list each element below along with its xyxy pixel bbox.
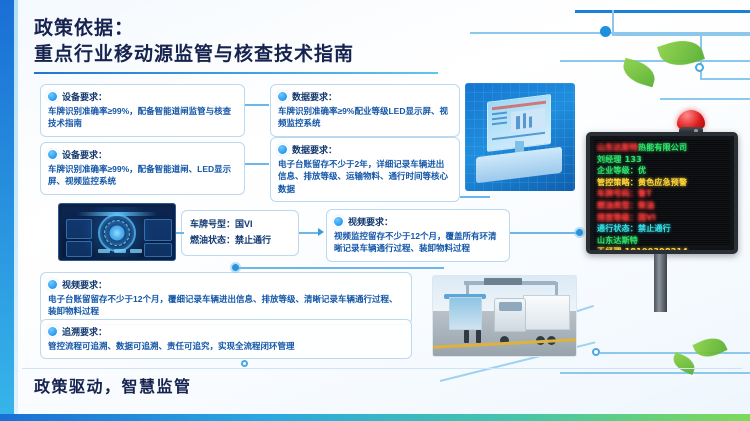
circuit-line: [575, 10, 750, 13]
page-title: 政策依据： 重点行业移动源监管与核查技术指南: [34, 16, 354, 67]
card-title-text: 视频要求：: [348, 215, 393, 228]
led-line-control-strategy: 管控策略：黄色应急预警: [597, 177, 727, 189]
led-line-manager-phone: 王经理 18100398214: [597, 246, 727, 254]
led-line-emission-grade: 排放等级：国VI: [597, 212, 727, 224]
leaf-icon: [692, 333, 727, 363]
leaf-icon: [670, 352, 698, 375]
card-video-bottom[interactable]: 视频要求： 电子台账留留存不少于12个月，覆细记录车辆进出信息、排放等级、清晰记…: [40, 272, 412, 325]
circuit-line: [600, 352, 750, 354]
circuit-line: [700, 34, 702, 78]
circuit-node: [241, 360, 248, 367]
card-body-text: 车牌识别准确率≥99%，配备智能道闸监管与核查技术指南: [48, 105, 237, 130]
card-title-text: 视频要求：: [62, 278, 107, 291]
card-body-text: 管控流程可追溯、数据可追溯、责任可追究，实现全流程闭环管理: [48, 340, 404, 352]
leaf-icon: [657, 34, 705, 72]
card-header: 设备要求：: [48, 148, 237, 161]
connector-line: [245, 104, 269, 106]
card-trace[interactable]: 追溯要求： 管控流程可追溯、数据可追溯、责任可追究，实现全流程闭环管理: [40, 319, 412, 359]
dashboard-panel: [66, 241, 92, 257]
bullet-dot-icon: [278, 92, 287, 101]
fuel-status-label: 燃油状态：: [190, 235, 235, 245]
dashboard-panel: [144, 219, 172, 241]
card-title-text: 数据要求：: [292, 143, 337, 156]
circuit-line: [660, 98, 750, 100]
card-data-2[interactable]: 数据要求： 电子台账留存不少于2年，详细记录车辆进出信息、排放等级、运输物料、通…: [270, 137, 460, 202]
card-title-text: 设备要求：: [62, 90, 107, 103]
led-company-suffix: 热能有限公司: [638, 143, 687, 152]
dashboard-panel: [144, 243, 172, 257]
heading-line-2: 重点行业移动源监管与核查技术指南: [34, 42, 354, 68]
card-title-text: 数据要求：: [292, 90, 337, 103]
led-line-fuel-type: 燃油类型：柴油: [597, 200, 727, 212]
card-body-text: 电子台账留存不少于2年，详细记录车辆进出信息、排放等级、运输物料、通行时间等核心…: [278, 158, 452, 195]
card-header: 视频要求：: [48, 278, 404, 291]
led-line-pass-status: 通行状态：禁止通行: [597, 223, 727, 235]
circuit-line: [700, 78, 750, 80]
connector-line: [245, 163, 269, 165]
circuit-line: [560, 60, 750, 62]
bullet-dot-icon: [48, 150, 57, 159]
card-body-text: 车牌识别准确率≥9%配业等级LED显示屏、视频监控系统: [278, 105, 452, 130]
connector-line: [510, 232, 580, 234]
card-body-text: 电子台账留留存不少于12个月，覆细记录车辆进出信息、排放等级、清晰记录车辆通行过…: [48, 293, 404, 318]
circuit-line: [470, 32, 750, 34]
dashboard-button: [114, 249, 126, 253]
circuit-line: [612, 10, 614, 34]
led-display-unit: 山东达斯特热能有限公司 刘经理 133 企业等级：优 管控策略：黄色应急预警 车…: [581, 110, 746, 310]
dashboard-panel: [66, 219, 92, 239]
card-equipment-1[interactable]: 设备要求： 车牌识别准确率≥99%，配备智能道闸监管与核查技术指南: [40, 84, 245, 137]
bullet-dot-icon: [48, 92, 57, 101]
truck-trailer: [523, 295, 570, 330]
connector-line: [299, 232, 319, 234]
arrow-icon: [318, 228, 324, 236]
bullet-dot-icon: [48, 327, 57, 336]
plate-model-label: 车牌号型：: [190, 219, 235, 229]
led-line-plate-number: 车牌号码：鲁T: [597, 188, 727, 200]
led-line-enterprise-grade: 企业等级：优: [597, 165, 727, 177]
dashboard-gauge-core: [110, 226, 125, 241]
led-line-company: 山东达斯特热能有限公司: [597, 142, 727, 154]
truck-gate-photo: [432, 275, 577, 357]
leaf-icon: [620, 58, 658, 88]
display-pole: [654, 254, 667, 312]
plate-model-value: 国VI: [235, 219, 253, 229]
dashboard-screenshot: [58, 203, 176, 261]
bollard: [476, 330, 481, 343]
card-title-text: 设备要求：: [62, 148, 107, 161]
left-accent-bar-secondary: [14, 0, 18, 421]
card-body-text: 视频监控留存不少于12个月，覆盖所有环清晰记录车辆通行过程、装卸物料过程: [334, 230, 502, 255]
circuit-node: [592, 348, 600, 356]
plate-row-1: 车牌号型：国VI: [190, 217, 290, 233]
bullet-dot-icon: [334, 217, 343, 226]
card-equipment-2[interactable]: 设备要求： 车牌识别准确率≥99%，配备智能道闸、LED显示屏、视频监控系统: [40, 142, 245, 195]
plate-info-box[interactable]: 车牌号型：国VI 燃油状态：禁止通行: [181, 210, 299, 256]
led-company-prefix: 山东达斯特: [597, 143, 638, 152]
card-header: 数据要求：: [278, 143, 452, 156]
slide-root: 政策依据： 重点行业移动源监管与核查技术指南 设备要求： 车牌识别准确率≥99%…: [0, 0, 750, 421]
card-data-1[interactable]: 数据要求： 车牌识别准确率≥9%配业等级LED显示屏、视频监控系统: [270, 84, 460, 137]
card-header: 追溯要求：: [48, 325, 404, 338]
card-header: 视频要求：: [334, 215, 502, 228]
card-body-text: 车牌识别准确率≥99%，配备智能道闸、LED显示屏、视频监控系统: [48, 163, 237, 188]
connector-line: [234, 267, 444, 269]
circuit-line: [560, 372, 750, 374]
bollard: [464, 330, 469, 343]
card-video-right[interactable]: 视频要求： 视频监控留存不少于12个月，覆盖所有环清晰记录车辆通行过程、装卸物料…: [326, 209, 510, 262]
circuit-node: [695, 63, 704, 72]
connector-line: [460, 196, 490, 198]
truck-windshield: [499, 302, 522, 312]
overhead-sign: [484, 278, 521, 285]
footer-title: 政策驱动，智慧监管: [34, 373, 192, 397]
left-accent-bar: [0, 0, 14, 421]
circuit-node: [600, 26, 611, 37]
title-underline: [34, 72, 438, 74]
gate-booth: [449, 297, 482, 331]
connector-node: [232, 264, 239, 271]
bullet-dot-icon: [278, 145, 287, 154]
led-line-company-short: 山东达斯特: [597, 235, 727, 247]
card-title-text: 追溯要求：: [62, 325, 107, 338]
dashboard-canvas: [62, 207, 172, 257]
divider: [22, 368, 742, 369]
fuel-status-value: 禁止通行: [235, 235, 271, 245]
dashboard-button: [130, 249, 142, 253]
led-line-contact-1: 刘经理 133: [597, 154, 727, 166]
heading-line-1: 政策依据：: [34, 16, 354, 42]
led-board[interactable]: 山东达斯特热能有限公司 刘经理 133 企业等级：优 管控策略：黄色应急预警 车…: [586, 132, 738, 254]
bottom-gradient-strip: [0, 414, 750, 421]
plate-row-2: 燃油状态：禁止通行: [190, 233, 290, 249]
dashboard-button: [98, 249, 110, 253]
monitoring-system-illustration: [465, 83, 575, 191]
led-screen: 山东达斯特热能有限公司 刘经理 133 企业等级：优 管控策略：黄色应急预警 车…: [594, 140, 730, 246]
circuit-line: [612, 34, 750, 36]
connector-line: [176, 232, 184, 234]
card-header: 数据要求：: [278, 90, 452, 103]
card-header: 设备要求：: [48, 90, 237, 103]
bullet-dot-icon: [48, 280, 57, 289]
